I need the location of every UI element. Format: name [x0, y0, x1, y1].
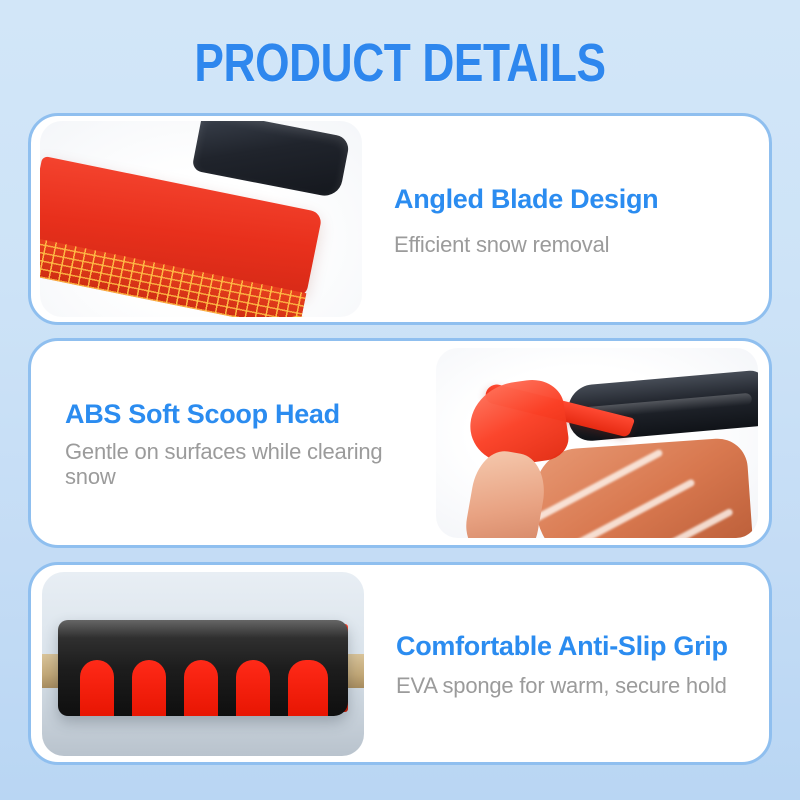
- anti-slip-grip-photo: [42, 572, 364, 756]
- feature-subtitle: Efficient snow removal: [394, 232, 751, 257]
- eva-foam-grip: [58, 620, 348, 716]
- grip-groove: [236, 660, 270, 716]
- grip-groove: [132, 660, 166, 716]
- grip-groove: [80, 660, 114, 716]
- feature-card-angled-blade: Angled Blade Design Efficient snow remov…: [28, 113, 772, 325]
- soft-scoop-photo: [436, 348, 758, 538]
- product-image-angled-blade: [40, 121, 362, 317]
- feature-subtitle: EVA sponge for warm, secure hold: [396, 673, 751, 698]
- feature-heading: Comfortable Anti-Slip Grip: [396, 629, 751, 663]
- feature-text-angled-blade: Angled Blade Design Efficient snow remov…: [362, 182, 769, 257]
- blade-handle: [191, 121, 350, 199]
- product-details-page: PRODUCT DETAILS Angled Blade Design Effi…: [0, 0, 800, 800]
- angled-blade-photo: [40, 121, 362, 317]
- blade-grid-texture: [40, 236, 306, 317]
- hand-fingers: [532, 437, 754, 538]
- grip-groove: [288, 660, 328, 716]
- finger-crease: [532, 448, 663, 525]
- scoop-handle: [566, 369, 758, 442]
- finger-crease: [560, 478, 696, 538]
- page-title: PRODUCT DETAILS: [72, 34, 728, 92]
- grip-groove: [184, 660, 218, 716]
- feature-text-anti-slip-grip: Comfortable Anti-Slip Grip EVA sponge fo…: [364, 629, 769, 698]
- feature-card-anti-slip-grip: Comfortable Anti-Slip Grip EVA sponge fo…: [28, 562, 772, 765]
- feature-heading: Angled Blade Design: [394, 182, 751, 216]
- feature-heading: ABS Soft Scoop Head: [65, 397, 428, 431]
- product-image-soft-scoop-head: [436, 348, 758, 538]
- product-image-anti-slip-grip: [42, 572, 364, 756]
- feature-card-soft-scoop-head: ABS Soft Scoop Head Gentle on surfaces w…: [28, 338, 772, 548]
- grip-sheen: [58, 620, 348, 638]
- feature-subtitle: Gentle on surfaces while clearing snow: [65, 439, 428, 489]
- feature-text-soft-scoop-head: ABS Soft Scoop Head Gentle on surfaces w…: [31, 397, 436, 489]
